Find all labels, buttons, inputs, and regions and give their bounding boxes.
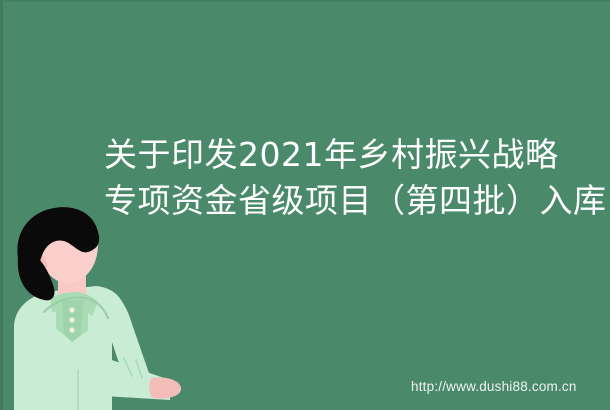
poster-canvas: 关于印发2021年乡村振兴战略 专项资金省级项目（第四批）入库 http://w… <box>0 0 610 410</box>
site-url-watermark: http://www.dushi88.com.cn <box>411 379 577 394</box>
poster-title: 关于印发2021年乡村振兴战略 专项资金省级项目（第四批）入库 <box>104 132 604 224</box>
title-line-2: 专项资金省级项目（第四批）入库 <box>104 178 604 224</box>
shirt-buttons <box>69 307 74 332</box>
hand-shape <box>149 377 181 398</box>
person-pointing-illustration <box>0 200 230 410</box>
title-line-1: 关于印发2021年乡村振兴战略 <box>104 132 604 178</box>
